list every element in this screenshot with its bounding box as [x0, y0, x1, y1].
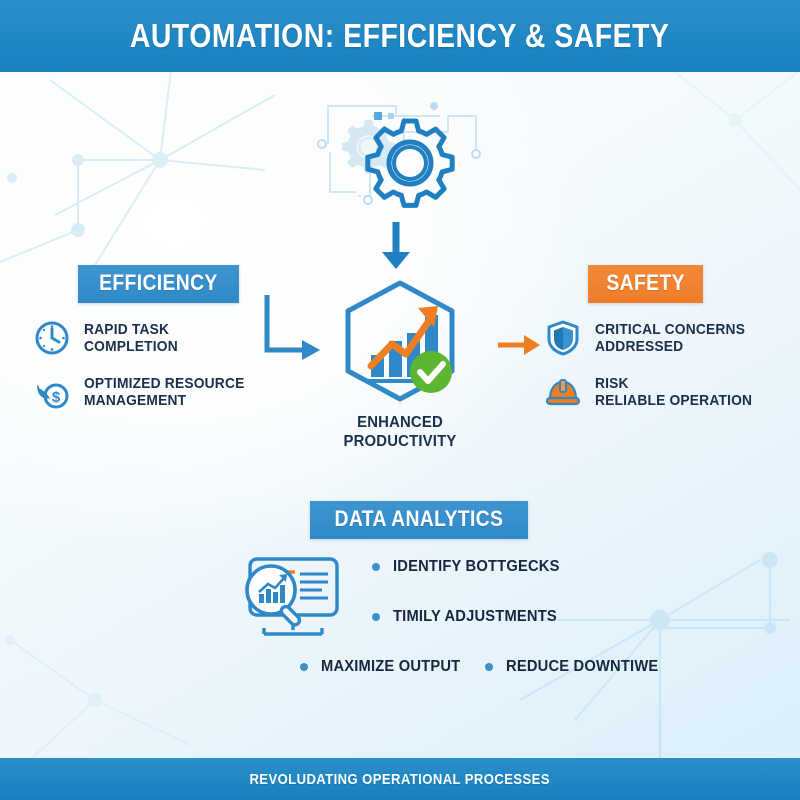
- badge-efficiency-label: EFFICIENCY: [99, 270, 218, 296]
- shield-icon: [543, 318, 583, 358]
- analytics-bottom-bullets: MAXIMIZE OUTPUT REDUCE DOWNTIWE: [300, 658, 672, 676]
- badge-data-analytics-label: DATA ANALYTICS: [335, 506, 504, 532]
- bullet-dot-icon: [300, 663, 308, 671]
- arrow-down-icon: [378, 222, 414, 275]
- bullet-dot-icon: [485, 663, 493, 671]
- badge-efficiency: EFFICIENCY: [78, 265, 239, 303]
- list-item: TIMILY ADJUSTMENTS: [372, 608, 632, 626]
- clock-icon: [32, 318, 72, 358]
- bullet-dot-icon: [372, 563, 380, 571]
- arrow-right-icon: [498, 332, 542, 363]
- feature-label: RISK RELIABLE OPERATION: [595, 375, 752, 409]
- badge-data-analytics: DATA ANALYTICS: [310, 501, 528, 539]
- analytics-bullet-list: IDENTIFY BOTTGECKS TIMILY ADJUSTMENTS: [372, 558, 632, 658]
- badge-safety-label: SAFETY: [606, 270, 684, 296]
- feature-label: OPTIMIZED RESOURCE MANAGEMENT: [84, 375, 244, 409]
- list-item: IDENTIFY BOTTGECKS: [372, 558, 632, 576]
- svg-text:$: $: [52, 389, 61, 406]
- center-caption: ENHANCED PRODUCTIVITY: [326, 414, 475, 452]
- center-hexagon-group: [330, 278, 470, 418]
- footer-bar: REVOLUDATING OPERATIONAL PROCESSES: [0, 758, 800, 800]
- page-title: AUTOMATION: EFFICIENCY & SAFETY: [130, 17, 669, 55]
- header-bar: AUTOMATION: EFFICIENCY & SAFETY: [0, 0, 800, 72]
- bullet-label: TIMILY ADJUSTMENTS: [393, 608, 557, 626]
- feature-critical-concerns-addressed: CRITICAL CONCERNS ADDRESSED: [543, 318, 758, 358]
- bullet-label: IDENTIFY BOTTGECKS: [393, 558, 560, 576]
- hard-hat-icon: [543, 372, 583, 412]
- badge-safety: SAFETY: [588, 265, 703, 303]
- infographic-canvas: AUTOMATION: EFFICIENCY & SAFETY: [0, 0, 800, 800]
- feature-risk-reliable-operation: RISK RELIABLE OPERATION: [543, 372, 766, 412]
- bullet-dot-icon: [372, 613, 380, 621]
- feature-label: CRITICAL CONCERNS ADDRESSED: [595, 321, 745, 355]
- leaf-dollar-icon: $: [32, 372, 72, 412]
- magnifier-dashboard-icon: [238, 552, 348, 649]
- check-circle-icon: [410, 351, 452, 393]
- feature-rapid-task-completion: RAPID TASK COMPLETION: [32, 318, 186, 358]
- feature-optimized-resource-management: $ OPTIMIZED RESOURCE MANAGEMENT: [32, 372, 258, 412]
- bullet-label: MAXIMIZE OUTPUT: [321, 658, 460, 676]
- elbow-arrow-right-icon: [262, 295, 324, 370]
- automation-gears-group: [300, 92, 500, 232]
- bullet-label: REDUCE DOWNTIWE: [506, 658, 658, 676]
- feature-label: RAPID TASK COMPLETION: [84, 321, 178, 355]
- footer-title: REVOLUDATING OPERATIONAL PROCESSES: [250, 771, 550, 788]
